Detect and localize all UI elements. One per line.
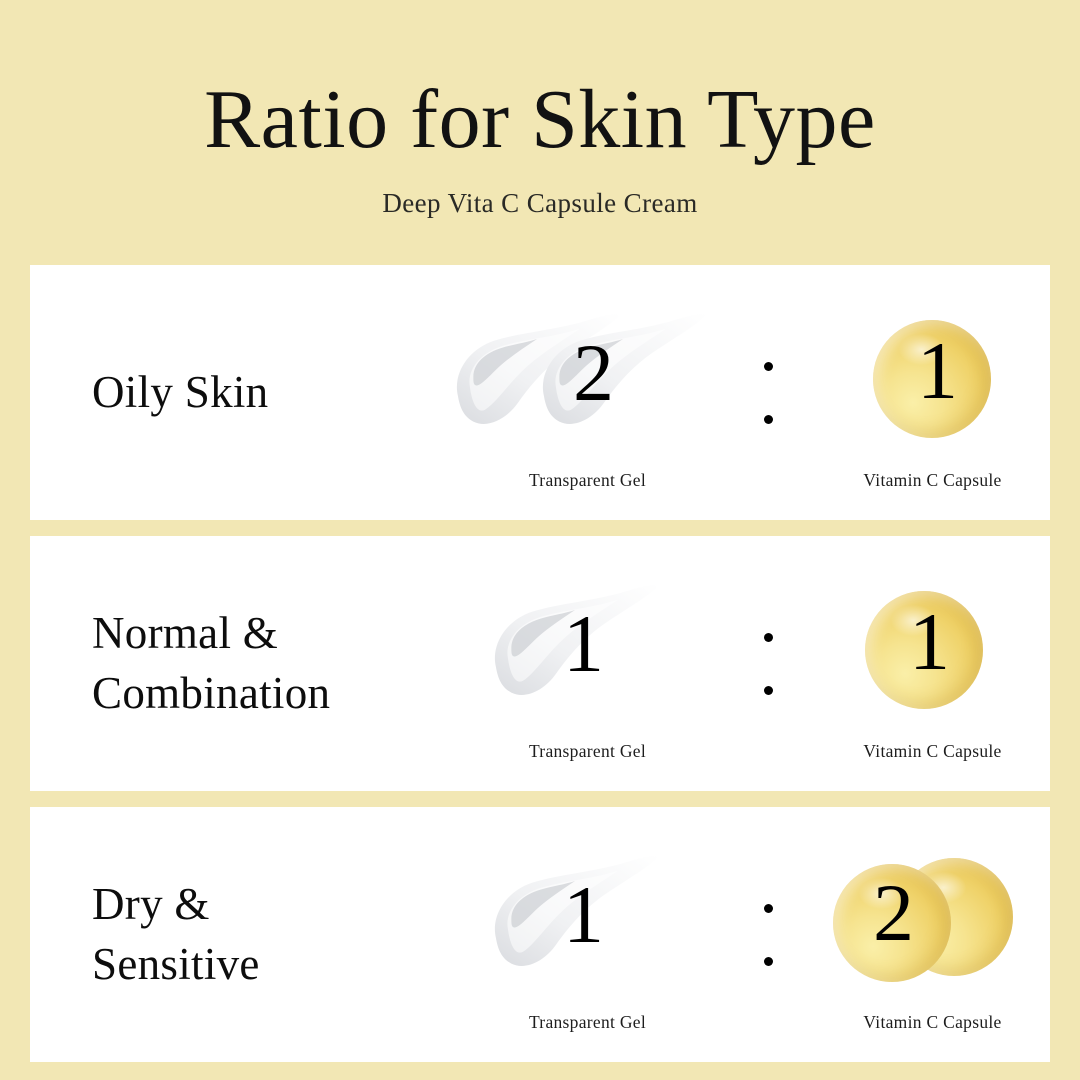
skin-type-label-line1: Oily Skin <box>92 363 422 422</box>
skin-type-label: Oily Skin <box>92 265 422 520</box>
gel-artwork: 1 <box>445 836 730 1006</box>
colon-dot-top <box>764 362 773 371</box>
gel-amount: 1 <box>563 874 604 956</box>
capsule-group: 2 Vitamin C Capsule <box>805 807 1050 1062</box>
ratio-separator <box>753 536 783 791</box>
header: Ratio for Skin Type Deep Vita C Capsule … <box>0 0 1080 219</box>
gel-caption: Transparent Gel <box>529 470 646 491</box>
capsule-amount: 1 <box>909 601 950 683</box>
infographic-page: { "theme": { "background": "#F2E7B4", "c… <box>0 0 1080 1080</box>
gel-group: 1 Transparent Gel <box>445 536 730 791</box>
colon-dot-top <box>764 904 773 913</box>
ratio-row-list: Oily Skin <box>30 265 1050 1062</box>
skin-type-label: Normal & Combination <box>92 536 422 791</box>
capsule-group: 1 Vitamin C Capsule <box>805 265 1050 520</box>
gel-amount: 2 <box>573 332 614 414</box>
capsule-amount: 2 <box>873 872 914 954</box>
capsule-artwork: 1 <box>805 294 1050 464</box>
gel-caption: Transparent Gel <box>529 741 646 762</box>
skin-type-label: Dry & Sensitive <box>92 807 422 1062</box>
gel-artwork: 1 <box>445 565 730 735</box>
page-title: Ratio for Skin Type <box>0 78 1080 162</box>
gel-caption: Transparent Gel <box>529 1012 646 1033</box>
skin-type-label-line2: Sensitive <box>92 935 422 994</box>
gel-group: 1 Transparent Gel <box>445 807 730 1062</box>
colon-dot-bottom <box>764 686 773 695</box>
capsule-group: 1 Vitamin C Capsule <box>805 536 1050 791</box>
table-row: Dry & Sensitive <box>30 807 1050 1062</box>
capsule-artwork: 2 <box>805 836 1050 1006</box>
table-row: Oily Skin <box>30 265 1050 520</box>
colon-dot-bottom <box>764 957 773 966</box>
capsule-artwork: 1 <box>805 565 1050 735</box>
capsule-caption: Vitamin C Capsule <box>863 741 1001 762</box>
ratio-separator <box>753 265 783 520</box>
table-row: Normal & Combination <box>30 536 1050 791</box>
skin-type-label-line1: Dry & <box>92 875 422 934</box>
page-subtitle: Deep Vita C Capsule Cream <box>0 188 1080 219</box>
capsule-amount: 1 <box>917 330 958 412</box>
skin-type-label-line2: Combination <box>92 664 422 723</box>
capsule-caption: Vitamin C Capsule <box>863 1012 1001 1033</box>
gel-swatch-icon <box>537 310 709 442</box>
skin-type-label-line1: Normal & <box>92 604 422 663</box>
ratio-separator <box>753 807 783 1062</box>
gel-artwork: 2 <box>445 294 730 464</box>
capsule-caption: Vitamin C Capsule <box>863 470 1001 491</box>
gel-group: 2 Transparent Gel <box>445 265 730 520</box>
gel-amount: 1 <box>563 603 604 685</box>
colon-dot-top <box>764 633 773 642</box>
colon-dot-bottom <box>764 415 773 424</box>
